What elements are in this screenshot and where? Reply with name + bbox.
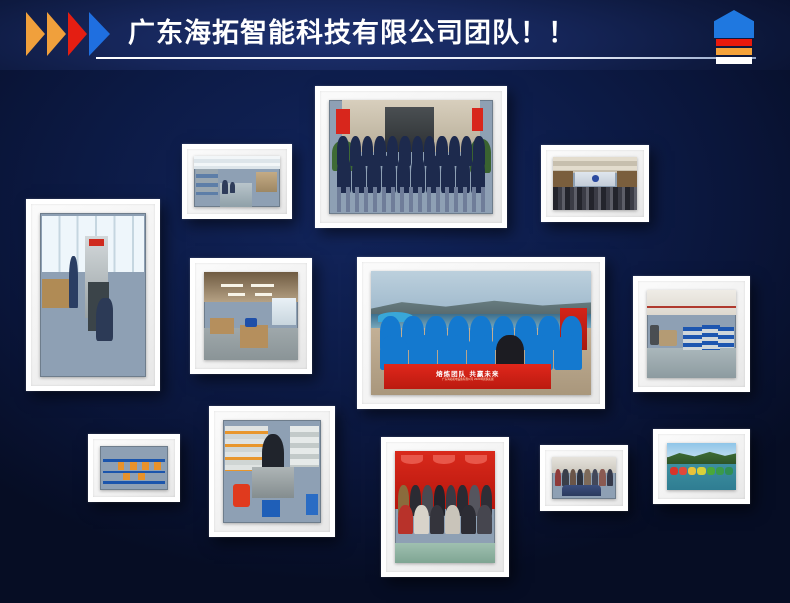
- photo-detail: [256, 172, 277, 191]
- logo-bar-red: [716, 39, 752, 46]
- photo-detail: [251, 284, 274, 287]
- photo-detail: [221, 284, 244, 287]
- photo-detail: [118, 462, 125, 470]
- photo-detail: [272, 298, 296, 324]
- photo-detail: [336, 109, 351, 134]
- photo-detail: [617, 171, 637, 188]
- chevron-right-icon-4: [89, 12, 110, 56]
- photo-banner: 熔炼团队 共赢未来 广东海拓机电设备有限公司 2020年团队拓展: [384, 364, 551, 389]
- photo-detail: [647, 348, 736, 378]
- photo-frame-assembly[interactable]: [209, 406, 335, 537]
- photo-detail: [96, 298, 113, 341]
- frame-mat: [195, 263, 307, 369]
- frame-mat: [386, 442, 504, 572]
- logo-roof-shape: [714, 10, 754, 38]
- photo-detail: [230, 182, 235, 193]
- photo-frame-office[interactable]: [190, 258, 312, 374]
- photo-detail: [670, 467, 733, 475]
- photo-kayak: [667, 443, 736, 490]
- photo-detail: [718, 327, 734, 348]
- photo-frame-conference[interactable]: [541, 145, 649, 222]
- photo-detail: [196, 169, 218, 195]
- photo-detail: [592, 175, 600, 182]
- photo-frame-warehouse[interactable]: [633, 276, 750, 392]
- photo-detail: [395, 543, 495, 563]
- chevron-arrows-decoration: [26, 12, 126, 56]
- photo-detail: [252, 467, 293, 498]
- photo-detail: [245, 318, 256, 327]
- photo-detail: [659, 330, 677, 346]
- frame-mat: [93, 439, 175, 497]
- photo-annual-party: [395, 451, 495, 563]
- photo-detail: [138, 473, 145, 480]
- photo-detail: [233, 484, 251, 507]
- logo-bar-orange: [716, 48, 752, 55]
- frame-mat: [546, 150, 644, 217]
- photo-detail: [647, 306, 736, 308]
- photo-frame-beach-team[interactable]: 熔炼团队 共赢未来 广东海拓机电设备有限公司 2020年团队拓展: [357, 257, 605, 409]
- photo-detail: [647, 290, 736, 315]
- photo-detail: [337, 187, 485, 212]
- photo-detail: [103, 471, 166, 474]
- logo-bar-white: [716, 57, 752, 64]
- photo-detail: [228, 293, 245, 296]
- photo-detail: [306, 494, 318, 515]
- photo-frame-factory-line[interactable]: [182, 144, 292, 219]
- photo-frame-shelving[interactable]: [88, 434, 180, 502]
- photo-detail: [562, 485, 600, 496]
- photo-detail: [240, 325, 268, 348]
- header-divider: [96, 57, 756, 59]
- photo-team-group: [329, 100, 493, 214]
- photo-detail: [154, 462, 161, 470]
- photo-workshop-portrait: [40, 213, 146, 377]
- photo-detail: [683, 327, 703, 350]
- page-title: 广东海拓智能科技有限公司团队！！: [128, 11, 576, 50]
- photo-frame-annual-party[interactable]: [381, 437, 509, 577]
- banner-headline: 熔炼团队 共赢未来: [436, 371, 499, 378]
- chevron-right-icon-3: [68, 12, 87, 56]
- photo-detail: [290, 426, 319, 467]
- photo-detail: [398, 505, 492, 534]
- photo-detail: [262, 500, 280, 516]
- photo-detail: [255, 293, 272, 296]
- frame-mat: [31, 204, 155, 386]
- frame-mat: [545, 450, 623, 506]
- photo-detail: [555, 469, 614, 486]
- frame-mat: [658, 434, 745, 499]
- photo-office: [204, 272, 298, 360]
- photo-conference: [553, 157, 637, 210]
- frame-mat: [214, 411, 330, 532]
- banner-subline: 广东海拓机电设备有限公司 2020年团队拓展: [442, 379, 494, 382]
- frame-mat: [320, 91, 502, 223]
- photo-beach-team: 熔炼团队 共赢未来 广东海拓机电设备有限公司 2020年团队拓展: [371, 271, 591, 395]
- photo-frame-team-group[interactable]: [315, 86, 507, 228]
- photo-detail: [553, 171, 573, 188]
- photo-detail: [553, 187, 637, 210]
- photo-detail: [69, 256, 79, 308]
- photo-frame-indoor-gathering[interactable]: [540, 445, 628, 511]
- photo-shelving: [100, 446, 168, 490]
- frame-mat: 熔炼团队 共赢未来 广东海拓机电设备有限公司 2020年团队拓展: [362, 262, 600, 404]
- photo-detail: [123, 473, 130, 480]
- photo-detail: [89, 239, 104, 246]
- frame-mat: [187, 149, 287, 214]
- frame-mat: [638, 281, 745, 387]
- photo-detail: [142, 462, 149, 470]
- photo-detail: [42, 279, 72, 309]
- photo-detail: [103, 481, 166, 484]
- chevron-right-icon-1: [26, 12, 45, 56]
- page-header: 广东海拓智能科技有限公司团队！！: [0, 0, 790, 70]
- company-house-logo: [714, 10, 754, 62]
- team-gallery-page: 广东海拓智能科技有限公司团队！！: [0, 0, 790, 603]
- photo-detail: [210, 318, 234, 334]
- photo-detail: [472, 108, 483, 131]
- photo-detail: [650, 325, 659, 344]
- photo-detail: [194, 156, 280, 169]
- photo-assembly: [223, 420, 321, 523]
- photo-indoor-gathering: [552, 457, 616, 499]
- photo-detail: [222, 180, 228, 193]
- photo-factory-line: [194, 156, 280, 207]
- photo-detail: [130, 462, 137, 470]
- photo-frame-kayak[interactable]: [653, 429, 750, 504]
- photo-frame-workshop-portrait[interactable]: [26, 199, 160, 391]
- chevron-right-icon-2: [47, 12, 66, 56]
- photo-warehouse: [647, 290, 736, 378]
